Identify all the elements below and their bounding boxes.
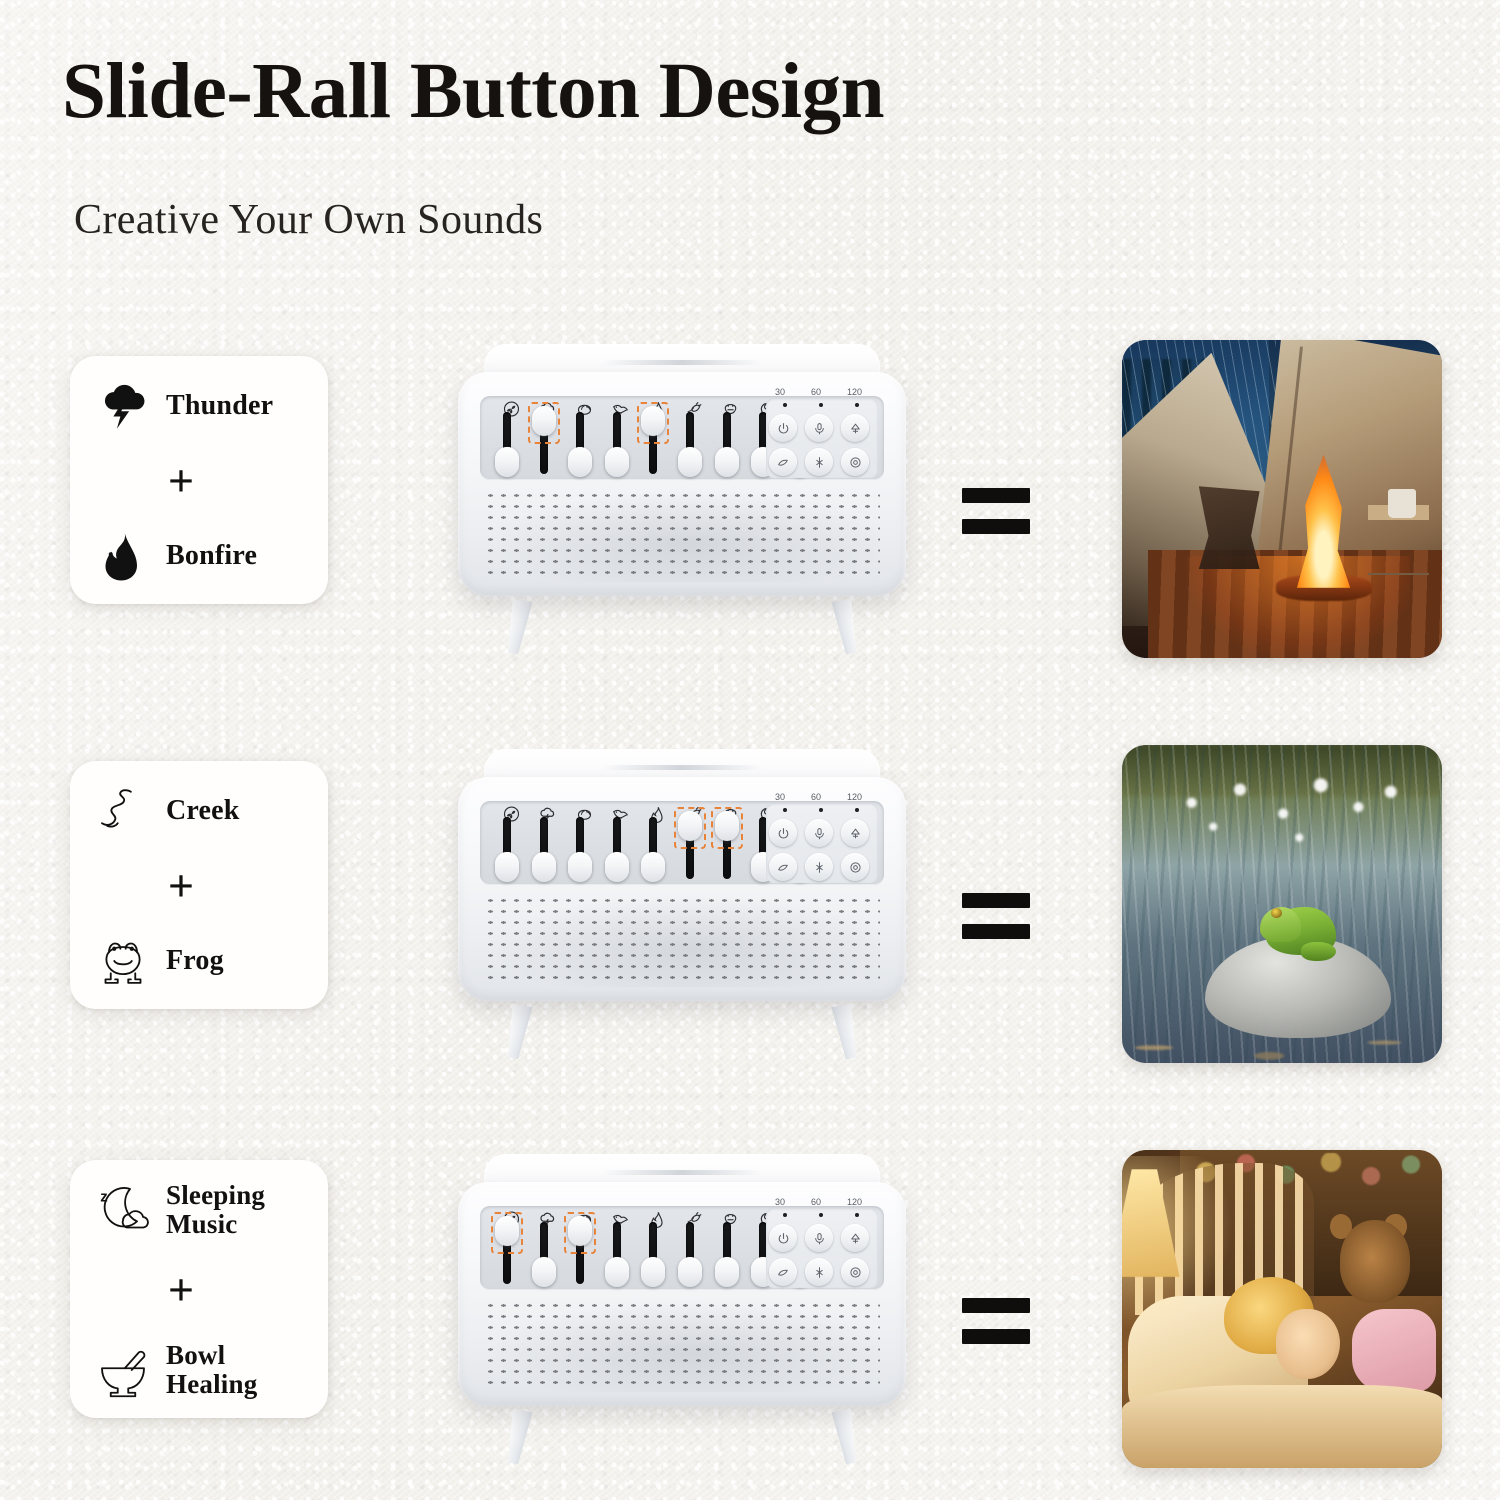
slider-leaf-wind-icon[interactable] (567, 1220, 593, 1286)
timer-led-30 (783, 808, 787, 812)
combination-row: Creek + Frog (0, 745, 1500, 1075)
timer-led-30 (783, 1213, 787, 1217)
mortar-bowl-icon (92, 1340, 154, 1400)
timer-label-60: 60 (811, 792, 821, 802)
flame-icon (92, 526, 154, 586)
timer-label-30: 30 (775, 387, 785, 397)
page-subtitle: Creative Your Own Sounds (74, 196, 543, 244)
nightlight-button[interactable] (769, 1258, 797, 1286)
timer-label-120: 120 (847, 1197, 862, 1207)
slider-highlight (637, 402, 669, 444)
sound-combination-card: Thunder + Bonfire (70, 356, 328, 604)
control-panel: 30 60 120 (480, 1206, 884, 1290)
equals-bar-top (962, 893, 1030, 908)
slider-frog-icon[interactable] (714, 815, 740, 881)
slider-knob[interactable] (605, 852, 629, 882)
lamp-button[interactable] (841, 819, 869, 847)
device-leg-right (831, 1409, 860, 1466)
slider-frog-icon[interactable] (714, 410, 740, 476)
record-button[interactable] (841, 853, 869, 881)
slider-highlight (564, 1212, 596, 1254)
control-panel: 30 60 120 (480, 801, 884, 885)
sound-button[interactable] (805, 1258, 833, 1286)
slider-flame-bonfire-icon[interactable] (640, 1220, 666, 1286)
timer-button-zone[interactable]: 30 60 120 (766, 803, 878, 883)
timer-led-60 (819, 403, 823, 407)
slider-cloud-thunder-icon[interactable] (531, 410, 557, 476)
slider-knob[interactable] (495, 852, 519, 882)
photo-rainy-campfire-tent (1122, 340, 1442, 658)
card-entry: z SleepingMusic (84, 1180, 314, 1240)
sound-machine-device: 30 60 120 (452, 743, 912, 1063)
slider-cricket-creek-icon[interactable] (677, 1220, 703, 1286)
timer-led-120 (855, 808, 859, 812)
card-entry: Thunder (84, 376, 314, 436)
plus-symbol: + (168, 465, 230, 497)
slider-highlight (674, 807, 706, 849)
stream-icon (92, 781, 154, 841)
equals-symbol (962, 1298, 1030, 1344)
page-title: Slide-Rall Button Design (62, 52, 884, 131)
record-button[interactable] (841, 1258, 869, 1286)
slider-flame-bonfire-icon[interactable] (640, 410, 666, 476)
slider-highlight (491, 1212, 523, 1254)
timer-button[interactable] (805, 1224, 833, 1252)
cloud-lightning-icon (92, 376, 154, 436)
card-entry: BowlHealing (84, 1340, 314, 1400)
slider-knob[interactable] (715, 447, 739, 477)
sound-button[interactable] (805, 853, 833, 881)
timer-label-60: 60 (811, 1197, 821, 1207)
timer-led-60 (819, 1213, 823, 1217)
timer-button-zone[interactable]: 30 60 120 (766, 1208, 878, 1288)
slider-cloud-thunder-icon[interactable] (531, 815, 557, 881)
slider-leaf-wind-icon[interactable] (567, 410, 593, 476)
card-entry-label: BowlHealing (166, 1341, 257, 1399)
record-button[interactable] (841, 448, 869, 476)
combination-row: Thunder + Bonfire (0, 340, 1500, 670)
slider-knob[interactable] (568, 852, 592, 882)
device-body: 30 60 120 (458, 777, 906, 1001)
card-entry: Frog (84, 931, 314, 991)
device-leg-left (503, 599, 532, 656)
slider-knob[interactable] (532, 1257, 556, 1287)
slider-bird-icon[interactable] (604, 410, 630, 476)
timer-led-120 (855, 1213, 859, 1217)
infographic-page: Slide-Rall Button Design Creative Your O… (0, 0, 1500, 1500)
card-entry: Creek (84, 781, 314, 841)
nightlight-button[interactable] (769, 853, 797, 881)
card-entry-label: SleepingMusic (166, 1181, 265, 1239)
slider-bird-icon[interactable] (604, 815, 630, 881)
timer-led-120 (855, 403, 859, 407)
frog-outline-icon (92, 931, 154, 991)
equals-bar-bottom (962, 924, 1030, 939)
slider-knob[interactable] (532, 852, 556, 882)
slider-knob[interactable] (641, 1257, 665, 1287)
sound-button[interactable] (805, 448, 833, 476)
slider-bird-icon[interactable] (604, 1220, 630, 1286)
slider-knob[interactable] (605, 1257, 629, 1287)
slider-knob[interactable] (495, 447, 519, 477)
slider-frog-icon[interactable] (714, 1220, 740, 1286)
timer-label-60: 60 (811, 387, 821, 397)
nightlight-button[interactable] (769, 448, 797, 476)
sound-combination-card: Creek + Frog (70, 761, 328, 1009)
power-button[interactable] (769, 414, 797, 442)
slider-knob[interactable] (568, 447, 592, 477)
control-panel: 30 60 120 (480, 396, 884, 480)
card-entry-label: Thunder (166, 391, 273, 421)
equals-bar-bottom (962, 519, 1030, 534)
timer-label-30: 30 (775, 1197, 785, 1207)
equals-bar-top (962, 488, 1030, 503)
device-top-seam (602, 1170, 762, 1175)
timer-button[interactable] (805, 819, 833, 847)
sound-machine-device: 30 60 120 (452, 338, 912, 658)
slider-fan-white-noise-icon[interactable] (494, 815, 520, 881)
slider-knob[interactable] (715, 1257, 739, 1287)
equals-bar-top (962, 1298, 1030, 1313)
slider-fan-white-noise-icon[interactable] (494, 1220, 520, 1286)
device-body: 30 60 120 (458, 372, 906, 596)
device-leg-right (831, 1004, 860, 1061)
plus-symbol: + (168, 1274, 230, 1306)
slider-knob[interactable] (678, 1257, 702, 1287)
slider-highlight (528, 402, 560, 444)
speaker-grille-shading (484, 490, 880, 582)
timer-label-120: 120 (847, 792, 862, 802)
slider-knob[interactable] (605, 447, 629, 477)
sound-machine-device: 30 60 120 (452, 1148, 912, 1468)
svg-text:z: z (100, 1189, 107, 1205)
lamp-button[interactable] (841, 414, 869, 442)
device-leg-left (503, 1409, 532, 1466)
card-entry-label: Frog (166, 946, 224, 976)
speaker-grille-shading (484, 1300, 880, 1392)
slider-leaf-wind-icon[interactable] (567, 815, 593, 881)
moon-zzz-icon: z (92, 1180, 154, 1240)
device-top-seam (602, 765, 762, 770)
device-body: 30 60 120 (458, 1182, 906, 1406)
sound-combination-card: z SleepingMusic + BowlHealing (70, 1160, 328, 1418)
timer-button[interactable] (805, 414, 833, 442)
photo-frog-on-creek-rock (1122, 745, 1442, 1063)
equals-symbol (962, 893, 1030, 939)
device-leg-left (503, 1004, 532, 1061)
timer-led-60 (819, 808, 823, 812)
slider-cricket-creek-icon[interactable] (677, 815, 703, 881)
timer-label-120: 120 (847, 387, 862, 397)
equals-bar-bottom (962, 1329, 1030, 1344)
combination-row: z SleepingMusic + BowlHealing (0, 1150, 1500, 1480)
plus-symbol: + (168, 870, 230, 902)
photo-child-sleeping-crib (1122, 1150, 1442, 1468)
lamp-button[interactable] (841, 1224, 869, 1252)
slider-cricket-creek-icon[interactable] (677, 410, 703, 476)
card-entry-label: Bonfire (166, 541, 257, 571)
speaker-grille-shading (484, 895, 880, 987)
slider-knob[interactable] (678, 447, 702, 477)
timer-button-zone[interactable]: 30 60 120 (766, 398, 878, 478)
slider-cloud-thunder-icon[interactable] (531, 1220, 557, 1286)
slider-knob[interactable] (641, 852, 665, 882)
power-button[interactable] (769, 819, 797, 847)
slider-fan-white-noise-icon[interactable] (494, 410, 520, 476)
timer-label-30: 30 (775, 792, 785, 802)
slider-highlight (711, 807, 743, 849)
device-top-seam (602, 360, 762, 365)
device-leg-right (831, 599, 860, 656)
timer-led-30 (783, 403, 787, 407)
card-entry-label: Creek (166, 796, 240, 826)
slider-flame-bonfire-icon[interactable] (640, 815, 666, 881)
card-entry: Bonfire (84, 526, 314, 586)
power-button[interactable] (769, 1224, 797, 1252)
equals-symbol (962, 488, 1030, 534)
